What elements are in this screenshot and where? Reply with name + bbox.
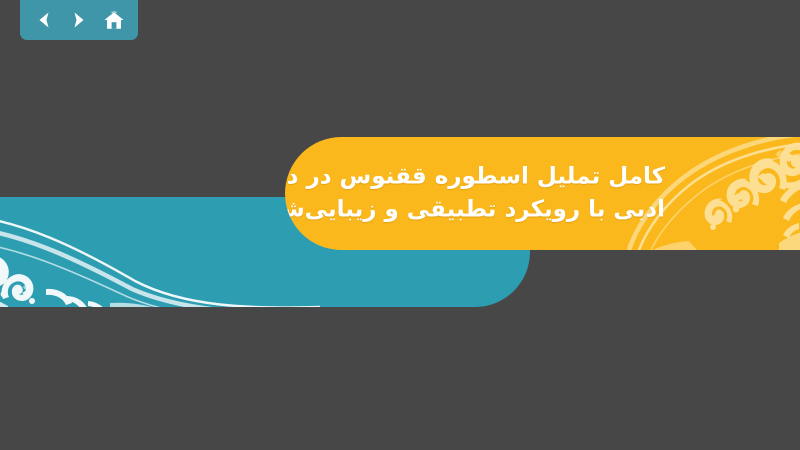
slide-title: کامل تملیل اسطوره ققنوس در دو روایت ادبی… <box>325 160 665 227</box>
triangle-right-icon <box>69 10 89 30</box>
home-icon <box>103 9 125 31</box>
triangle-left-icon <box>34 10 54 30</box>
navigation-toolbar <box>20 0 138 40</box>
slide-title-line-2: ادبی با رویکرد تطبیقی و زیبایی‌شناسانه <box>325 194 665 227</box>
slide-title-line-1: کامل تملیل اسطوره ققنوس در دو روایت <box>325 160 665 193</box>
accent-band-arabesque-ornament-icon <box>0 197 320 307</box>
previous-slide-button[interactable] <box>29 5 59 35</box>
home-button[interactable] <box>99 5 129 35</box>
next-slide-button[interactable] <box>64 5 94 35</box>
title-band: کامل تملیل اسطوره ققنوس در دو روایت ادبی… <box>285 137 800 250</box>
presentation-slide: کامل تملیل اسطوره ققنوس در دو روایت ادبی… <box>0 0 800 450</box>
